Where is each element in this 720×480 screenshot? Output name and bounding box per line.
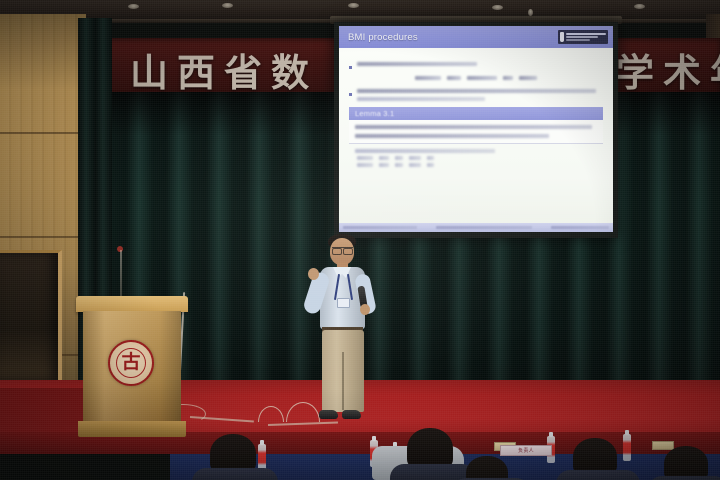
- water-bottle: [258, 444, 266, 471]
- slide-body: Lemma 3.1: [339, 48, 613, 232]
- slide-bullet-item: [349, 89, 603, 101]
- ceiling-spotlight-icon: [128, 4, 139, 9]
- table-paper-card: [652, 441, 674, 450]
- slide-footer-left: [343, 226, 417, 229]
- lemma-heading-label: Lemma 3.1: [355, 109, 394, 118]
- lemma-equation-row: [355, 163, 597, 167]
- lemma-body: [349, 120, 603, 144]
- presenter-left-hand: [308, 268, 319, 280]
- presenter-right-hand: [360, 304, 370, 315]
- water-bottle: [623, 434, 631, 461]
- banner-text-right: 学术年: [616, 42, 720, 94]
- bullet-dot-icon: [349, 93, 352, 96]
- audience-shoulders: [556, 470, 640, 480]
- logo-shield-icon: [560, 32, 564, 42]
- ceiling-spotlight-icon: [528, 9, 533, 16]
- presenter: [304, 234, 378, 430]
- display-equation: [392, 76, 560, 80]
- bullet-text-line: [357, 62, 477, 66]
- ceiling-spotlight-icon: [222, 3, 233, 8]
- front-row-audience: 负责人: [0, 428, 720, 480]
- lemma-equation-row: [355, 156, 597, 160]
- bullet-dot-icon: [349, 66, 352, 69]
- name-placard: 负责人: [500, 445, 552, 456]
- podium-top: [76, 296, 188, 312]
- slide-footer-center: [436, 226, 532, 229]
- slide-footer: [339, 223, 613, 232]
- university-seal-icon: 古: [108, 340, 154, 386]
- ceiling-spotlight-icon: [348, 3, 359, 8]
- ceiling-spotlight-icon: [492, 5, 503, 10]
- institution-logo-icon: [558, 30, 608, 44]
- bullet-text-line: [357, 89, 596, 93]
- podium: 古: [76, 296, 188, 440]
- lemma-heading-bar: Lemma 3.1: [349, 107, 603, 120]
- projection-screen: BMI procedures: [339, 26, 613, 232]
- trouser-seam: [342, 352, 344, 410]
- glasses-icon: [332, 247, 353, 252]
- seal-glyph: 古: [121, 353, 140, 372]
- lemma-body-line: [355, 125, 592, 129]
- lemma-body-line: [355, 134, 549, 138]
- presenter-shoe: [319, 410, 338, 419]
- wall-niche: [0, 250, 62, 380]
- projection-screen-frame: BMI procedures: [334, 22, 618, 238]
- lemma-note-block: [349, 144, 603, 167]
- slide-title: BMI procedures: [348, 32, 418, 43]
- podium-microphone-stem: [120, 250, 122, 298]
- conference-badge: [337, 298, 350, 308]
- lemma-note-line: [355, 149, 495, 153]
- presenter-shoe: [342, 410, 361, 419]
- ceiling-spotlight-icon: [634, 4, 645, 9]
- name-placard-label: 负责人: [518, 447, 534, 454]
- audience-shoulders: [648, 476, 720, 480]
- slide-bullet-item: [349, 62, 603, 69]
- presentation-photo-scene: 山西省数 学术年 BMI procedures: [0, 0, 720, 480]
- audience-head: [664, 446, 708, 480]
- banner-text-left: 山西省数: [130, 42, 318, 94]
- audience-head: [466, 456, 508, 480]
- slide-title-bar: BMI procedures: [339, 26, 613, 48]
- audience-shoulders: [192, 468, 278, 480]
- logo-text-lines: [566, 33, 606, 41]
- slide-footer-right: [551, 226, 609, 229]
